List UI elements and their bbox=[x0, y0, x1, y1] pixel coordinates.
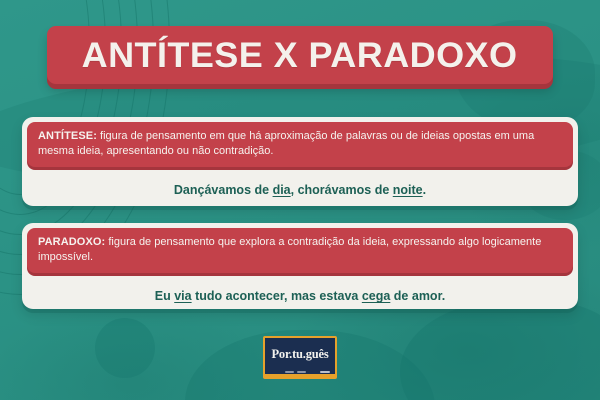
example-text-before: Dançávamos de bbox=[174, 183, 273, 197]
example-sentence-paradoxo: Eu via tudo acontecer, mas estava cega d… bbox=[27, 273, 573, 304]
example-highlight-dia: dia bbox=[273, 183, 291, 197]
example-highlight-cega: cega bbox=[362, 289, 391, 303]
concept-card-antitese: ANTÍTESE: figura de pensamento em que há… bbox=[22, 117, 578, 206]
definition-box-paradoxo: PARADOXO: figura de pensamento que explo… bbox=[27, 228, 573, 273]
example-highlight-noite: noite bbox=[393, 183, 423, 197]
page-title: ANTÍTESE X PARADOXO bbox=[82, 38, 518, 73]
definition-text-antitese: figura de pensamento em que há aproximaç… bbox=[38, 130, 534, 157]
concept-card-paradoxo: PARADOXO: figura de pensamento que explo… bbox=[22, 223, 578, 309]
example-text-middle: , chorávamos de bbox=[291, 183, 393, 197]
title-banner: ANTÍTESE X PARADOXO bbox=[47, 26, 553, 84]
chalk-piece bbox=[297, 371, 306, 373]
term-label-antitese: ANTÍTESE: bbox=[38, 130, 97, 142]
example-text-before: Eu bbox=[155, 289, 174, 303]
eraser-icon bbox=[320, 371, 330, 373]
logo-wordmark: Por.tu.guês bbox=[263, 347, 337, 362]
chalk-piece bbox=[285, 371, 294, 373]
example-text-middle: tudo acontecer, mas estava bbox=[192, 289, 362, 303]
example-sentence-antitese: Dançávamos de dia, chorávamos de noite. bbox=[27, 167, 573, 198]
definition-box-antitese: ANTÍTESE: figura de pensamento em que há… bbox=[27, 122, 573, 167]
example-text-after: . bbox=[423, 183, 426, 197]
brand-logo: Por.tu.guês bbox=[263, 336, 337, 377]
example-highlight-via: via bbox=[174, 289, 191, 303]
term-label-paradoxo: PARADOXO: bbox=[38, 236, 105, 248]
example-text-after: de amor. bbox=[390, 289, 445, 303]
infographic-page: ANTÍTESE X PARADOXO ANTÍTESE: figura de … bbox=[0, 0, 600, 400]
definition-text-paradoxo: figura de pensamento que explora a contr… bbox=[38, 236, 541, 263]
